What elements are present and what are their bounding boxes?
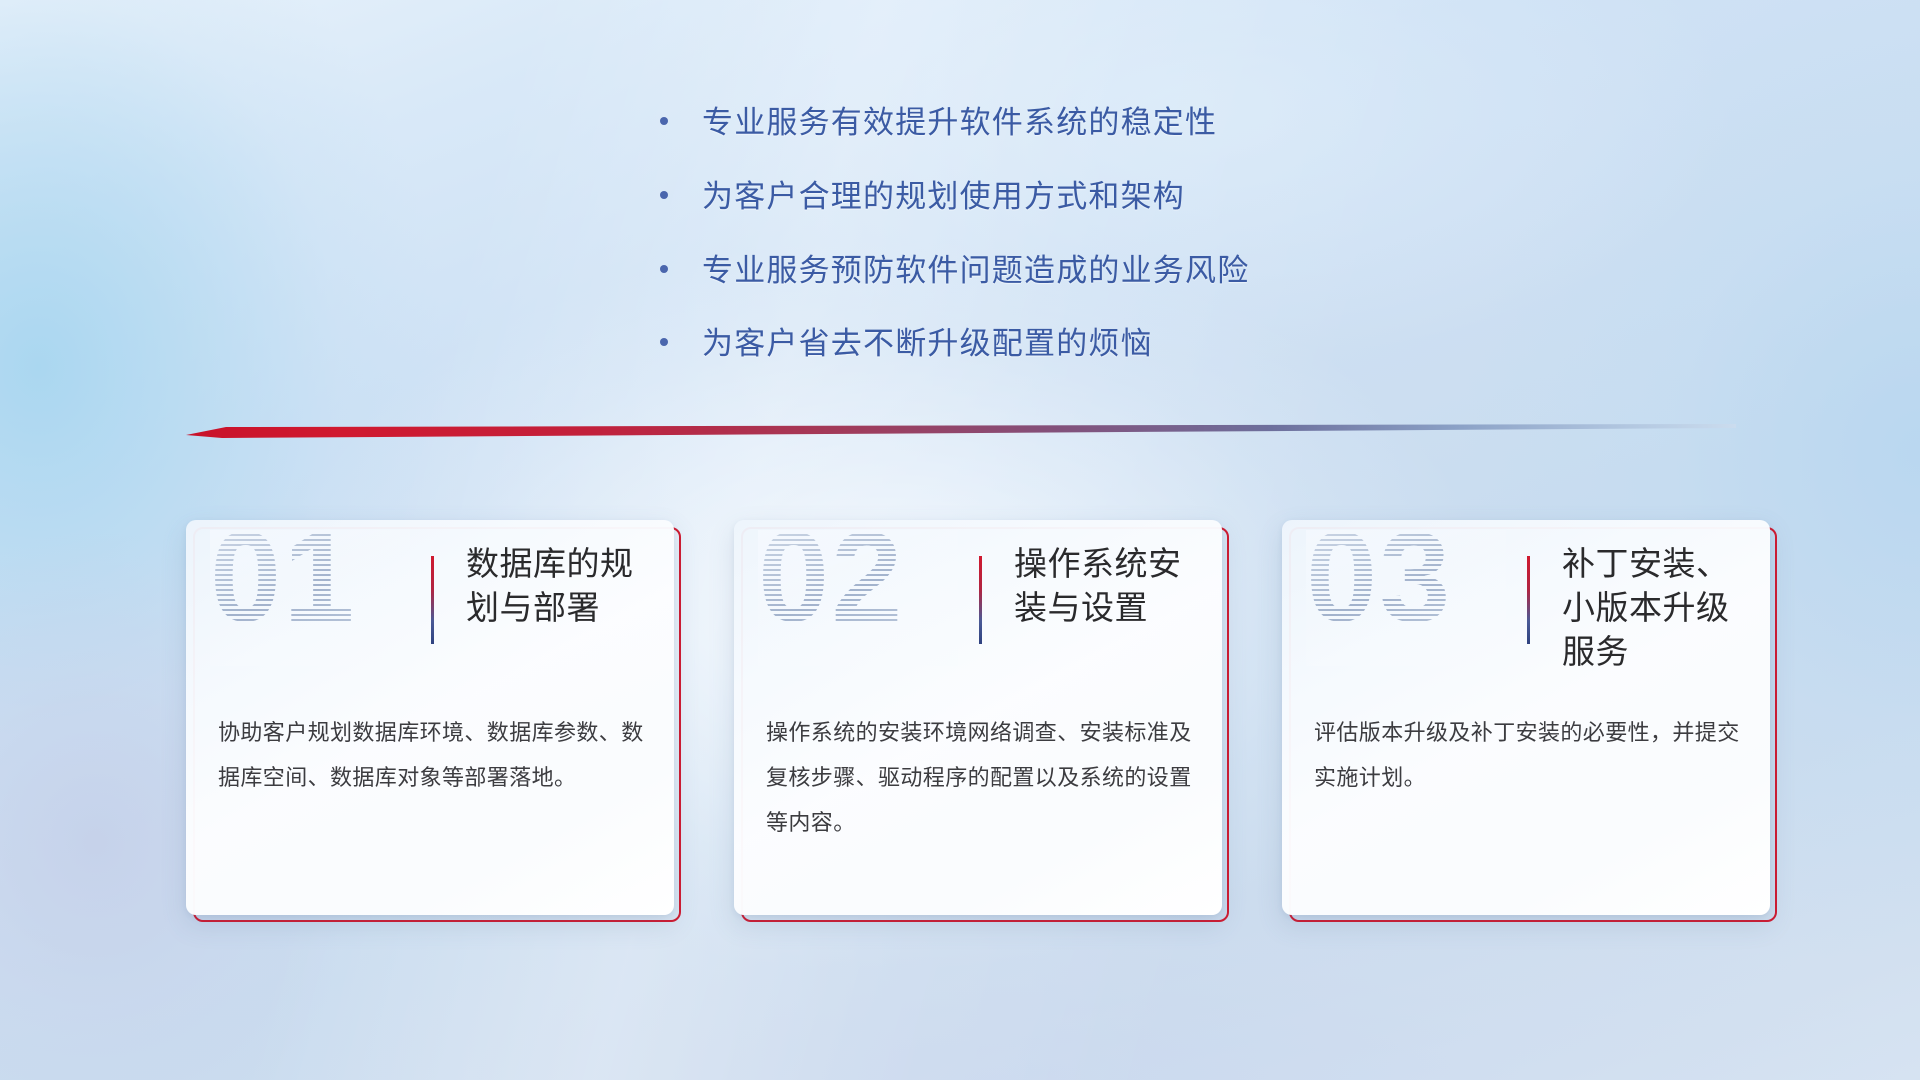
card-ghost-number: 02	[758, 530, 958, 666]
bullet-item: 为客户合理的规划使用方式和架构	[660, 178, 1480, 217]
card-accent-rule	[431, 556, 434, 644]
bullet-text: 为客户省去不断升级配置的烦恼	[702, 325, 1480, 364]
card-number-label: 01	[210, 530, 356, 642]
card-accent-rule	[979, 556, 982, 644]
benefits-bullet-list: 专业服务有效提升软件系统的稳定性 为客户合理的规划使用方式和架构 专业服务预防软…	[660, 104, 1480, 399]
bullet-text: 为客户合理的规划使用方式和架构	[702, 178, 1480, 217]
bullet-item: 专业服务预防软件问题造成的业务风险	[660, 252, 1480, 291]
card-header: 03 补丁安装、小版本升级服务	[1282, 520, 1770, 682]
card-title: 补丁安装、小版本升级服务	[1562, 542, 1748, 675]
card-accent-rule	[1527, 556, 1530, 644]
card-surface: 03 补丁安装、小版本升级服务 评估版本升级及补丁安装的必要性，并提交实施计划。	[1282, 520, 1770, 915]
card-number-label: 03	[1306, 530, 1452, 642]
service-card-03[interactable]: 03 补丁安装、小版本升级服务 评估版本升级及补丁安装的必要性，并提交实施计划。	[1282, 520, 1770, 915]
divider-shape-icon	[186, 424, 1736, 442]
bullet-dot-icon	[660, 117, 668, 125]
service-card-01[interactable]: 01 数据库的规划与部署 协助客户规划数据库环境、数据库参数、数据库空间、数据库…	[186, 520, 674, 915]
card-description: 操作系统的安装环境网络调查、安装标准及复核步骤、驱动程序的配置以及系统的设置等内…	[766, 710, 1192, 845]
card-description: 协助客户规划数据库环境、数据库参数、数据库空间、数据库对象等部署落地。	[218, 710, 644, 800]
card-surface: 01 数据库的规划与部署 协助客户规划数据库环境、数据库参数、数据库空间、数据库…	[186, 520, 674, 915]
card-title: 操作系统安装与设置	[1014, 542, 1200, 630]
bullet-dot-icon	[660, 191, 668, 199]
card-surface: 02 操作系统安装与设置 操作系统的安装环境网络调查、安装标准及复核步骤、驱动程…	[734, 520, 1222, 915]
card-ghost-number: 01	[210, 530, 410, 666]
bullet-dot-icon	[660, 338, 668, 346]
bullet-dot-icon	[660, 265, 668, 273]
section-divider	[186, 424, 1736, 442]
card-ghost-number: 03	[1306, 530, 1506, 666]
bullet-item: 为客户省去不断升级配置的烦恼	[660, 325, 1480, 364]
card-number-label: 02	[758, 530, 904, 642]
slide-canvas: 专业服务有效提升软件系统的稳定性 为客户合理的规划使用方式和架构 专业服务预防软…	[0, 0, 1920, 1080]
bullet-text: 专业服务预防软件问题造成的业务风险	[702, 252, 1480, 291]
card-title: 数据库的规划与部署	[466, 542, 652, 630]
card-header: 01 数据库的规划与部署	[186, 520, 674, 682]
card-header: 02 操作系统安装与设置	[734, 520, 1222, 682]
card-description: 评估版本升级及补丁安装的必要性，并提交实施计划。	[1314, 710, 1740, 800]
bullet-text: 专业服务有效提升软件系统的稳定性	[702, 104, 1480, 143]
service-card-row: 01 数据库的规划与部署 协助客户规划数据库环境、数据库参数、数据库空间、数据库…	[186, 520, 1766, 920]
bullet-item: 专业服务有效提升软件系统的稳定性	[660, 104, 1480, 143]
service-card-02[interactable]: 02 操作系统安装与设置 操作系统的安装环境网络调查、安装标准及复核步骤、驱动程…	[734, 520, 1222, 915]
